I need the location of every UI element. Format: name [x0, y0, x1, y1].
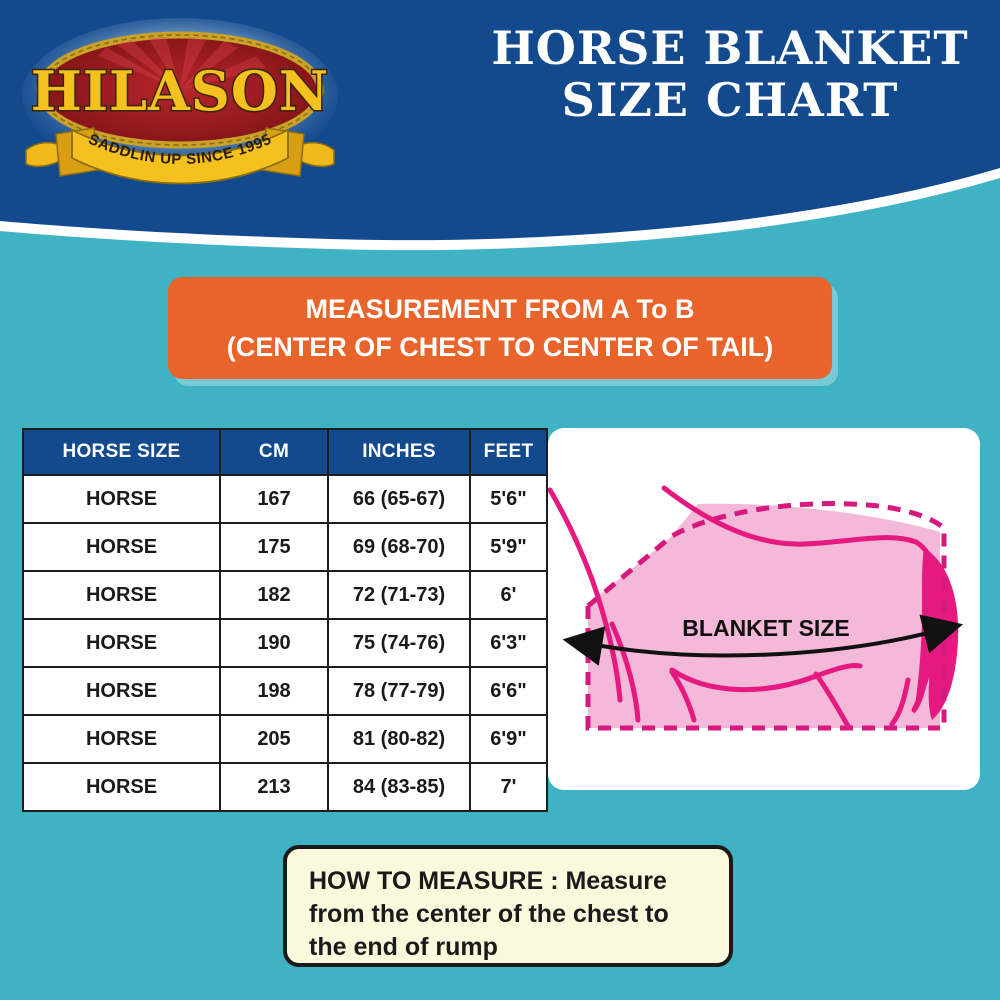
horse-illustration-panel: BLANKET SIZE — [548, 428, 980, 790]
cell-horse-size: HORSE — [23, 715, 220, 763]
size-chart-table: HORSE SIZE CM INCHES FEET HORSE 167 66 (… — [22, 428, 548, 812]
cell-horse-size: HORSE — [23, 571, 220, 619]
title-line-2: SIZE CHART — [470, 74, 990, 126]
cell-inches: 78 (77-79) — [328, 667, 470, 715]
cell-cm: 190 — [220, 619, 328, 667]
cell-feet: 7' — [470, 763, 547, 811]
cell-horse-size: HORSE — [23, 763, 220, 811]
size-chart-poster: HILASON SADDLIN UP SINCE 1995 HORSE BLAN… — [0, 0, 1000, 1000]
blanket-size-label: BLANKET SIZE — [682, 615, 849, 641]
cell-horse-size: HORSE — [23, 619, 220, 667]
horse-diagram: BLANKET SIZE — [548, 428, 980, 790]
cell-cm: 198 — [220, 667, 328, 715]
table-row: HORSE 198 78 (77-79) 6'6" — [23, 667, 547, 715]
table-head: HORSE SIZE CM INCHES FEET — [23, 429, 547, 475]
cell-feet: 6'3" — [470, 619, 547, 667]
table-row: HORSE 167 66 (65-67) 5'6" — [23, 475, 547, 523]
column-header-horse-size: HORSE SIZE — [23, 429, 220, 475]
table-row: HORSE 205 81 (80-82) 6'9" — [23, 715, 547, 763]
cell-cm: 182 — [220, 571, 328, 619]
hilason-logo: HILASON SADDLIN UP SINCE 1995 — [20, 18, 340, 198]
cell-cm: 175 — [220, 523, 328, 571]
banner-line-2: (CENTER OF CHEST TO CENTER OF TAIL) — [227, 328, 774, 366]
table-row: HORSE 190 75 (74-76) 6'3" — [23, 619, 547, 667]
cell-feet: 6' — [470, 571, 547, 619]
cell-inches: 66 (65-67) — [328, 475, 470, 523]
cell-inches: 75 (74-76) — [328, 619, 470, 667]
title-line-1: HORSE BLANKET — [491, 21, 968, 75]
table-header-row: HORSE SIZE CM INCHES FEET — [23, 429, 547, 475]
cell-inches: 84 (83-85) — [328, 763, 470, 811]
cell-cm: 205 — [220, 715, 328, 763]
cell-cm: 167 — [220, 475, 328, 523]
column-header-feet: FEET — [470, 429, 547, 475]
cell-feet: 5'9" — [470, 523, 547, 571]
cell-inches: 69 (68-70) — [328, 523, 470, 571]
cell-cm: 213 — [220, 763, 328, 811]
cell-horse-size: HORSE — [23, 667, 220, 715]
cell-feet: 6'6" — [470, 667, 547, 715]
cell-feet: 6'9" — [470, 715, 547, 763]
cell-inches: 81 (80-82) — [328, 715, 470, 763]
cell-horse-size: HORSE — [23, 475, 220, 523]
column-header-inches: INCHES — [328, 429, 470, 475]
how-to-measure-heading: HOW TO MEASURE : — [309, 867, 565, 895]
table-body: HORSE 167 66 (65-67) 5'6" HORSE 175 69 (… — [23, 475, 547, 811]
column-header-cm: CM — [220, 429, 328, 475]
cell-feet: 5'6" — [470, 475, 547, 523]
header-band: HILASON SADDLIN UP SINCE 1995 HORSE BLAN… — [0, 0, 1000, 275]
measurement-banner: MEASUREMENT FROM A To B (CENTER OF CHEST… — [168, 277, 832, 379]
banner-line-1: MEASUREMENT FROM A To B — [306, 290, 695, 328]
how-to-measure-note: HOW TO MEASURE : Measure from the center… — [283, 845, 733, 967]
table-row: HORSE 182 72 (71-73) 6' — [23, 571, 547, 619]
table-row: HORSE 213 84 (83-85) 7' — [23, 763, 547, 811]
table-row: HORSE 175 69 (68-70) 5'9" — [23, 523, 547, 571]
poster-title: HORSE BLANKET SIZE CHART — [470, 22, 990, 126]
logo-brand-text: HILASON — [31, 59, 330, 123]
cell-horse-size: HORSE — [23, 523, 220, 571]
cell-inches: 72 (71-73) — [328, 571, 470, 619]
